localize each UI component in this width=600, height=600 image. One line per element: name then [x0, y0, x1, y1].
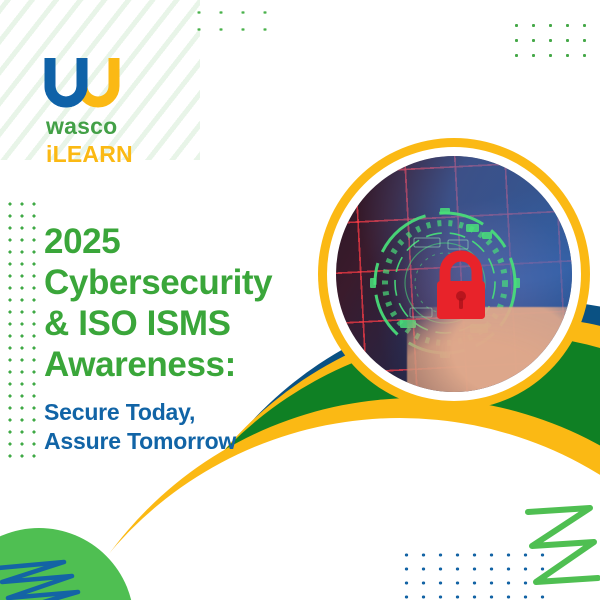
medallion-white-inner-ring: [327, 147, 581, 401]
headline-line-1: 2025: [44, 222, 312, 263]
padlock-icon: [426, 248, 496, 324]
subheadline-line-1: Secure Today,: [44, 398, 312, 427]
left-edge-dot-grid-decoration: [4, 198, 44, 464]
logo-text-ilearn: iLEARN: [46, 143, 194, 166]
subheadline-line-2: Assure Tomorrow: [44, 427, 312, 456]
headline-line-3: & ISO ISMS: [44, 304, 312, 345]
headline-line-4: Awareness:: [44, 345, 312, 386]
poster-canvas: wasco iLEARN 2025 Cybersecurity & ISO IS…: [0, 0, 600, 600]
cybersecurity-photo: [336, 156, 572, 392]
page-title: 2025 Cybersecurity & ISO ISMS Awareness:: [44, 222, 312, 386]
page-subtitle: Secure Today, Assure Tomorrow: [44, 398, 312, 457]
hero-image-medallion: [318, 138, 590, 410]
brand-logo[interactable]: wasco iLEARN: [44, 56, 194, 166]
logo-text-wasco: wasco: [46, 115, 194, 138]
wasco-double-u-mark-icon: [44, 56, 120, 108]
headline-line-2: Cybersecurity: [44, 263, 312, 304]
